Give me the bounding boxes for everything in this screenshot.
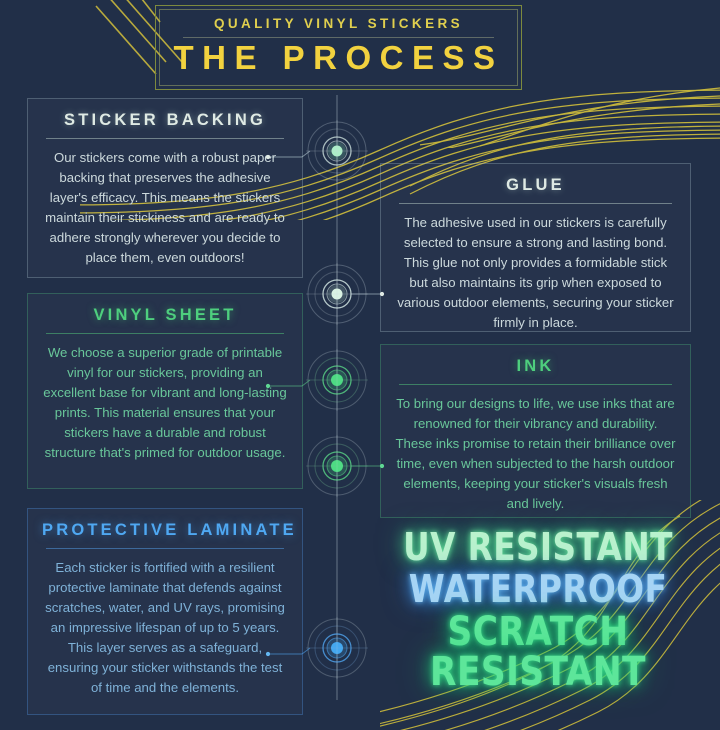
card-body-ink: To bring our designs to life, we use ink… bbox=[395, 394, 676, 514]
card-body-vinyl-sheet: We choose a superior grade of printable … bbox=[42, 343, 288, 463]
card-title-sticker-backing: STICKER BACKING bbox=[42, 111, 288, 138]
benefits-list: UV RESISTANT WATERPROOF SCRATCH RESISTAN… bbox=[378, 528, 698, 693]
card-vinyl-sheet: VINYL SHEET We choose a superior grade o… bbox=[27, 293, 303, 489]
page-title: THE PROCESS bbox=[173, 41, 503, 76]
card-divider bbox=[46, 548, 284, 549]
header-inner-frame: QUALITY VINYL STICKERS THE PROCESS bbox=[159, 9, 518, 86]
header-banner: QUALITY VINYL STICKERS THE PROCESS bbox=[155, 5, 522, 90]
card-divider bbox=[46, 333, 284, 334]
card-glue: GLUE The adhesive used in our stickers i… bbox=[380, 163, 691, 332]
node-glue bbox=[306, 263, 384, 325]
card-title-protective-laminate: PROTECTIVE LAMINATE bbox=[42, 521, 288, 548]
card-divider bbox=[46, 138, 284, 139]
card-body-sticker-backing: Our stickers come with a robust paper ba… bbox=[42, 148, 288, 268]
card-title-ink: INK bbox=[395, 357, 676, 384]
card-divider bbox=[399, 384, 672, 385]
node-ink bbox=[306, 435, 384, 497]
card-body-protective-laminate: Each sticker is fortified with a resilie… bbox=[42, 558, 288, 698]
card-divider bbox=[399, 203, 672, 204]
benefit-waterproof: WATERPROOF bbox=[400, 570, 675, 609]
header-kicker: QUALITY VINYL STICKERS bbox=[214, 16, 463, 31]
card-title-glue: GLUE bbox=[395, 176, 676, 203]
benefit-uv-resistant: UV RESISTANT bbox=[400, 528, 675, 567]
card-protective-laminate: PROTECTIVE LAMINATE Each sticker is fort… bbox=[27, 508, 303, 715]
benefit-scratch-resistant: SCRATCH RESISTANT bbox=[400, 612, 675, 694]
card-ink: INK To bring our designs to life, we use… bbox=[380, 344, 691, 518]
card-sticker-backing: STICKER BACKING Our stickers come with a… bbox=[27, 98, 303, 278]
card-body-glue: The adhesive used in our stickers is car… bbox=[395, 213, 676, 333]
card-title-vinyl-sheet: VINYL SHEET bbox=[42, 306, 288, 333]
header-divider bbox=[183, 37, 493, 38]
